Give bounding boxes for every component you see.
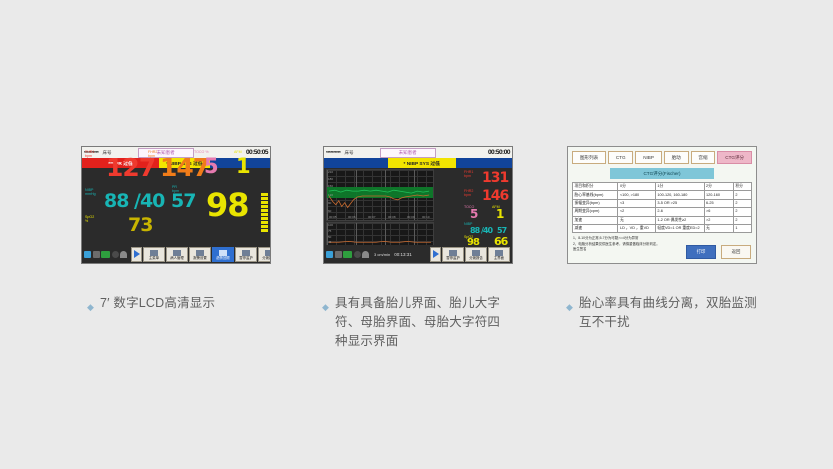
cell-two: 6-25 <box>704 199 733 207</box>
caption-1: ◆ 7′ 数字LCD高清显示 <box>87 294 277 313</box>
caption-3: ◆ 胎心率具有曲线分离，双胎监测互不干扰 <box>566 294 758 332</box>
table-row: 加速 无 1-2 OR 偶发性≥2 >2 2 <box>573 216 752 224</box>
tab-nibp[interactable]: NIBP <box>635 151 661 164</box>
fhr2-label: FHR2 bpm <box>464 189 473 198</box>
fhr1-trace-line <box>327 170 433 220</box>
fhr-x-tick: 00:06 <box>348 216 356 219</box>
dialog-tab-row: 图形列表 CTG NIBP 胎动 宫缩 CTG评分 <box>568 147 756 164</box>
softkey-start-button[interactable] <box>131 247 142 262</box>
caption-3-text: 胎心率具有曲线分离，双胎监测互不干扰 <box>579 294 758 332</box>
cell-one: 轻度VD=1 OR 重度ED=2 <box>655 224 704 232</box>
cell-score: 2 <box>733 191 751 199</box>
fhr2-value[interactable]: 146 <box>482 190 508 203</box>
cell-zero: LD ，VD ，重VD <box>618 224 655 232</box>
cell-item: 加速 <box>573 216 618 224</box>
alarm-mute-icon <box>112 251 119 258</box>
softkey-alarm-setup[interactable]: 报警设置 <box>189 247 211 262</box>
system-status-icons <box>324 251 369 258</box>
cell-one: 3-5 OR >25 <box>655 199 704 207</box>
caption-2-text: 具有具备胎儿界面、胎儿大字符、母胎界面、母胎大字符四种显示界面 <box>335 294 506 351</box>
system-status-icons <box>82 251 127 258</box>
cell-two: 无 <box>704 224 733 232</box>
elapsed-time-label: 00:13:31 <box>394 252 412 257</box>
wifi-icon <box>120 251 127 258</box>
cell-item: 振幅变异(bpm) <box>573 199 618 207</box>
fhr-x-tick: 00:07 <box>368 216 376 219</box>
fhr-y-tick: 180 <box>328 178 333 181</box>
alarm-blue-left <box>324 158 388 168</box>
cell-item: 胎心率基线(bpm) <box>573 191 618 199</box>
cell-two: >2 <box>704 216 733 224</box>
cell-two: 120-160 <box>704 191 733 199</box>
dialog-subtitle: CTG评分(Fischer) <box>610 168 713 179</box>
pr-value[interactable]: 57 <box>497 227 506 234</box>
patient-icon <box>173 250 181 256</box>
cell-zero: 无 <box>618 216 655 224</box>
cell-zero: <100, >180 <box>618 191 655 199</box>
bullet-diamond-icon: ◆ <box>87 298 94 317</box>
monitor-panel-numeric: ********** 床号 未知患者 00:50:05 *** PR 过低 * … <box>81 146 271 264</box>
fhr1-value[interactable]: 127 <box>106 157 155 180</box>
cell-one: 1-2 OR 偶发性≥2 <box>655 216 704 224</box>
col-header-one: 1分 <box>655 183 704 191</box>
patient-banner[interactable]: 未知患者 <box>380 148 436 158</box>
fhr1-label: FHR1 bpm <box>464 170 473 179</box>
ctg-score-dialog: 图形列表 CTG NIBP 胎动 宫缩 CTG评分 CTG评分(Fischer)… <box>567 146 757 264</box>
cell-score: 2 <box>733 199 751 207</box>
softkey-pause-monitor[interactable]: 暂停监护 <box>442 247 464 262</box>
paper-speed-label: 3 cm/min <box>374 252 390 257</box>
fhr-y-tick: 210 <box>328 171 333 174</box>
cell-score: 1 <box>733 224 751 232</box>
bullet-diamond-icon: ◆ <box>566 298 573 317</box>
alarm-mute-icon <box>354 251 361 258</box>
fhr-y-tick: 120 <box>328 194 333 197</box>
softkey-pause-monitor[interactable]: 暂停监护 <box>235 247 257 262</box>
tab-ctg-score[interactable]: CTG评分 <box>717 151 752 164</box>
fhr1-label: FHR1 bpm <box>85 150 94 159</box>
monitor-panel-ctg: ********** 床号 未知患者 00:50:00 * NIBP SYS 过… <box>323 146 513 264</box>
pr-value[interactable]: 57 <box>171 193 195 210</box>
col-header-zero: 0分 <box>618 183 655 191</box>
toco-y-tick: 50 <box>328 236 331 239</box>
fhr-y-tick: 150 <box>328 185 333 188</box>
cell-one: 2-6 <box>655 208 704 216</box>
col-header-item: 项目和积分 <box>573 183 618 191</box>
tab-graph-list[interactable]: 图形列表 <box>572 151 606 164</box>
caption-1-text: 7′ 数字LCD高清显示 <box>100 294 277 313</box>
afm-value[interactable]: 1 <box>236 157 250 176</box>
fhr-x-tick: 00:09 <box>407 216 415 219</box>
home-icon <box>495 250 503 256</box>
spo2-value[interactable]: 98 <box>206 191 249 220</box>
nibp-sys-value[interactable]: 88 <box>470 227 479 234</box>
col-header-score: 积分 <box>733 183 751 191</box>
menu-icon <box>150 250 158 256</box>
toco-y-tick: 75 <box>328 230 331 233</box>
tab-fetal-move[interactable]: 胎动 <box>664 151 689 164</box>
fhr-trace-chart[interactable]: 210 180 150 120 90 60 00:05 00:06 00:07 … <box>326 169 434 221</box>
print-button[interactable]: 打印 <box>686 245 716 259</box>
col-header-two: 2分 <box>704 183 733 191</box>
report-icon <box>472 250 480 256</box>
fhr-x-tick: 00:10 <box>422 216 430 219</box>
nibp-label: NIBP mmHg <box>85 188 96 197</box>
monitor1-softkey-bar: 主菜单 病人管理 报警设置 趋势回顾 暂停监护 分娩报告 主界面 <box>131 247 271 262</box>
softkey-main-menu[interactable]: 主菜单 <box>143 247 165 262</box>
monitor2-numeric-column: FHR1 bpm 131 FHR2 bpm 146 TOCO 5 AFM 1 N… <box>434 147 512 245</box>
bed-label: 床号 <box>345 150 354 156</box>
pause-icon <box>242 250 250 256</box>
patient-id-label: ********** <box>326 150 341 155</box>
monitor1-numeric-grid: FHR1 bpm 127 FHR2 bpm 147 TOCO % 5 AFM 1… <box>82 147 270 245</box>
tab-ctg[interactable]: CTG <box>608 151 633 164</box>
network-icon <box>326 251 333 258</box>
bullet-diamond-icon: ◆ <box>322 298 329 317</box>
softkey-start-button[interactable] <box>430 247 441 262</box>
fhr-x-tick: 00:08 <box>388 216 396 219</box>
fhr-x-tick: 00:05 <box>329 216 337 219</box>
caption-2: ◆ 具有具备胎儿界面、胎儿大字符、母胎界面、母胎大字符四种显示界面 <box>322 294 506 351</box>
table-header-row: 项目和积分 0分 1分 2分 积分 <box>573 183 752 191</box>
table-row: 周期变异(cpm) <2 2-6 >6 2 <box>573 208 752 216</box>
battery-icon <box>343 251 352 258</box>
tab-contraction[interactable]: 宫缩 <box>691 151 716 164</box>
cell-zero: <2 <box>618 208 655 216</box>
temp-value[interactable]: 73 <box>128 217 152 234</box>
battery-icon <box>101 251 110 258</box>
toco-value[interactable]: 5 <box>470 209 477 220</box>
softkey-delivery-report[interactable]: 分娩报告 <box>465 247 487 262</box>
pause-icon <box>449 250 457 256</box>
return-button[interactable]: 返回 <box>721 245 751 259</box>
cell-score: 2 <box>733 216 751 224</box>
cell-score: 2 <box>733 208 751 216</box>
network-icon <box>84 251 91 258</box>
cell-item: 周期变异(cpm) <box>573 208 618 216</box>
nibp-dia-value[interactable]: /40 <box>481 227 492 234</box>
wifi-icon <box>362 251 369 258</box>
cell-zero: <3 <box>618 199 655 207</box>
spo2-label: SpO2 % <box>85 215 94 224</box>
fhr2-label: FHR2 bpm <box>148 150 157 159</box>
speaker-icon <box>93 251 100 258</box>
fhr-y-tick: 90 <box>328 202 331 205</box>
fhr1-value[interactable]: 131 <box>482 172 508 185</box>
cell-one: 100-120, 160-180 <box>655 191 704 199</box>
play-icon <box>433 250 439 258</box>
nibp-dia-value[interactable]: /40 <box>134 193 164 210</box>
bell-icon <box>196 250 204 256</box>
table-row: 振幅变异(bpm) <3 3-5 OR >25 6-25 2 <box>573 199 752 207</box>
speaker-icon <box>335 251 342 258</box>
monitor2-softkey-bar: 暂停监护 分娩报告 主界面 <box>430 247 510 262</box>
fhr2-value[interactable]: 147 <box>160 157 209 180</box>
table-row: 胎心率基线(bpm) <100, >180 100-120, 160-180 1… <box>573 191 752 199</box>
softkey-delivery-report[interactable]: 分娩报告 <box>258 247 271 262</box>
nibp-sys-value[interactable]: 88 <box>104 193 128 210</box>
toco-y-tick: 25 <box>328 241 331 244</box>
monitor2-footer: 3 cm/min 00:13:31 暂停监护 分娩报告 主界面 <box>324 245 512 263</box>
softkey-home-screen[interactable]: 主界面 <box>488 247 510 262</box>
softkey-trend-review[interactable]: 趋势回顾 <box>212 247 234 262</box>
play-icon <box>134 250 140 258</box>
monitor1-footer: 主菜单 病人管理 报警设置 趋势回顾 暂停监护 分娩报告 主界面 <box>82 245 270 263</box>
spo2-bar-graph <box>261 193 268 232</box>
toco-value[interactable]: 5 <box>204 157 218 176</box>
cell-item: 减速 <box>573 224 618 232</box>
toco-y-tick: 100 <box>328 224 333 227</box>
afm-value[interactable]: 1 <box>496 209 503 220</box>
ctg-score-table: 项目和积分 0分 1分 2分 积分 胎心率基线(bpm) <100, >180 … <box>572 182 752 233</box>
toco-trace-chart[interactable]: 100 75 50 25 <box>326 222 434 246</box>
dialog-button-row: 打印 返回 <box>686 245 751 259</box>
trend-icon <box>219 250 227 256</box>
softkey-patient-manage[interactable]: 病人管理 <box>166 247 188 262</box>
toco-trace-line <box>327 223 433 245</box>
report-icon <box>265 250 271 256</box>
fhr-y-tick: 60 <box>328 210 331 213</box>
cell-two: >6 <box>704 208 733 216</box>
table-row: 减速 LD ，VD ，重VD 轻度VD=1 OR 重度ED=2 无 1 <box>573 224 752 232</box>
